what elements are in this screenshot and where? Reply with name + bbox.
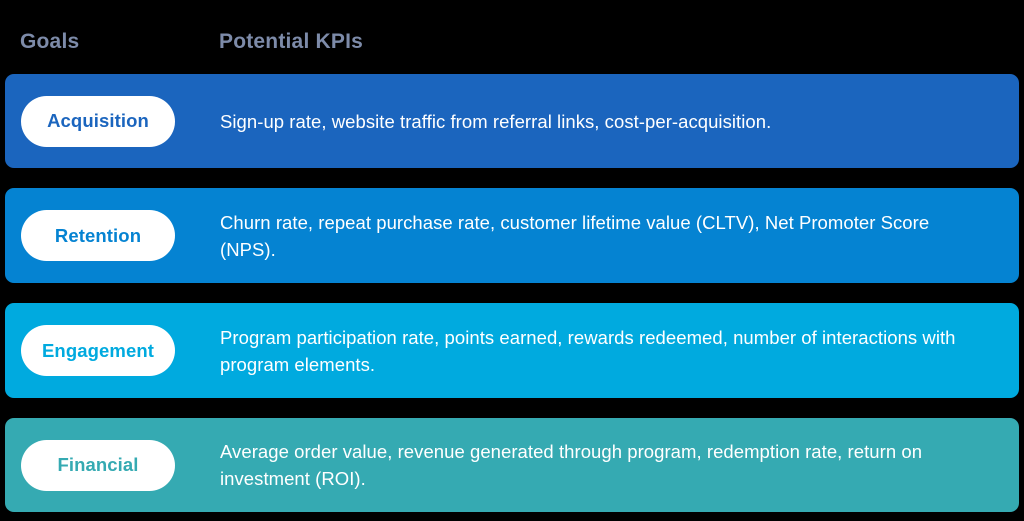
column-header-potential-kpis: Potential KPIs xyxy=(219,30,363,54)
kpi-description: Program participation rate, points earne… xyxy=(220,324,971,378)
goal-pill-acquisition[interactable]: Acquisition xyxy=(21,96,175,147)
kpi-table: Goals Potential KPIs Acquisition Sign-up… xyxy=(0,0,1024,521)
goal-pill-label: Engagement xyxy=(42,340,154,362)
kpi-description: Churn rate, repeat purchase rate, custom… xyxy=(220,209,971,263)
goal-pill-label: Financial xyxy=(57,454,138,476)
goal-pill-retention[interactable]: Retention xyxy=(21,210,175,261)
table-row: Retention Churn rate, repeat purchase ra… xyxy=(5,188,1019,283)
goal-pill-label: Acquisition xyxy=(47,110,149,132)
table-row: Acquisition Sign-up rate, website traffi… xyxy=(5,74,1019,168)
goal-pill-financial[interactable]: Financial xyxy=(21,440,175,491)
table-header: Goals Potential KPIs xyxy=(0,0,1024,74)
goal-pill-label: Retention xyxy=(55,225,141,247)
kpi-description: Average order value, revenue generated t… xyxy=(220,438,971,492)
column-header-goals: Goals xyxy=(20,30,79,54)
table-row: Engagement Program participation rate, p… xyxy=(5,303,1019,398)
kpi-description: Sign-up rate, website traffic from refer… xyxy=(220,108,971,135)
table-row: Financial Average order value, revenue g… xyxy=(5,418,1019,512)
goal-pill-engagement[interactable]: Engagement xyxy=(21,325,175,376)
table-body: Acquisition Sign-up rate, website traffi… xyxy=(0,74,1024,512)
